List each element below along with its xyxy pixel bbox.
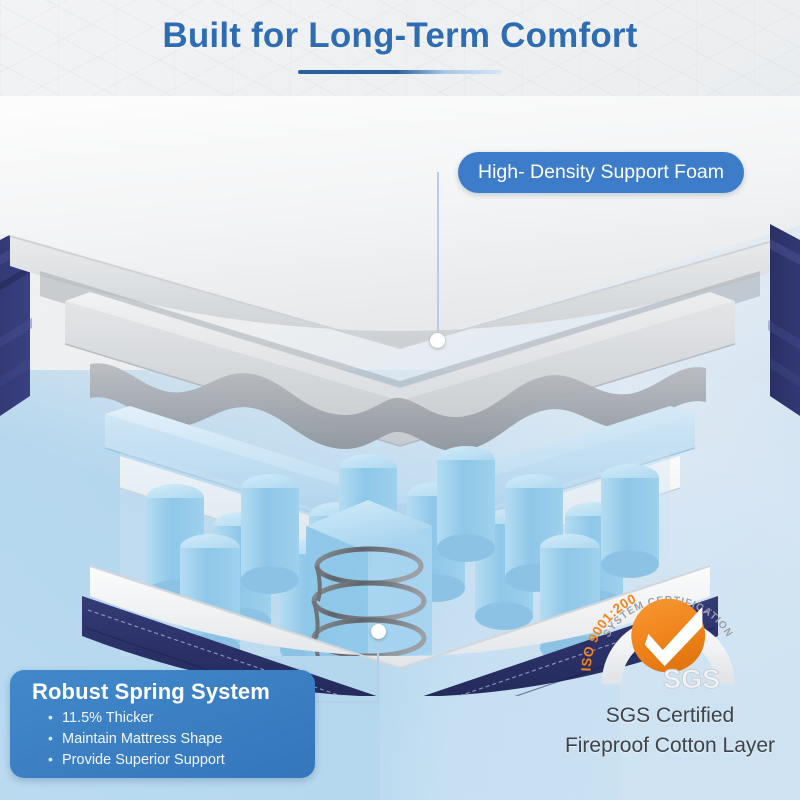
sgs-wordmark: SGS bbox=[663, 664, 720, 694]
spring-leader-dot bbox=[371, 624, 386, 639]
spring-panel-bullet-list: 11.5% Thicker Maintain Mattress Shape Pr… bbox=[32, 708, 315, 771]
title-divider bbox=[298, 70, 502, 74]
sgs-caption-line-1: SGS Certified bbox=[540, 701, 800, 731]
badge-high-density-support-foam[interactable]: High- Density Support Foam bbox=[458, 152, 744, 193]
list-item: 11.5% Thicker bbox=[48, 708, 315, 729]
panel-robust-spring-system[interactable]: Robust Spring System 11.5% Thicker Maint… bbox=[10, 670, 315, 778]
sgs-logo: SYSTEM CERTIFICATION ISO 9001:2000 SGS bbox=[580, 578, 760, 695]
sgs-certification-block: SYSTEM CERTIFICATION ISO 9001:2000 SGS S… bbox=[540, 578, 800, 761]
sgs-caption: SGS Certified Fireproof Cotton Layer bbox=[540, 701, 800, 761]
sgs-caption-line-2: Fireproof Cotton Layer bbox=[540, 731, 800, 761]
spring-leader-line-horizontal bbox=[312, 701, 379, 703]
list-item: Maintain Mattress Shape bbox=[48, 729, 315, 750]
list-item: Provide Superior Support bbox=[48, 750, 315, 771]
product-infographic: Built for Long-Term Comfort bbox=[0, 0, 800, 800]
spring-panel-heading: Robust Spring System bbox=[32, 679, 315, 705]
badge-label: High- Density Support Foam bbox=[478, 161, 724, 184]
spring-leader-line-vertical bbox=[377, 638, 379, 702]
foam-leader-line-vertical bbox=[437, 172, 439, 342]
foam-leader-dot bbox=[430, 333, 445, 348]
page-title: Built for Long-Term Comfort bbox=[0, 16, 800, 56]
